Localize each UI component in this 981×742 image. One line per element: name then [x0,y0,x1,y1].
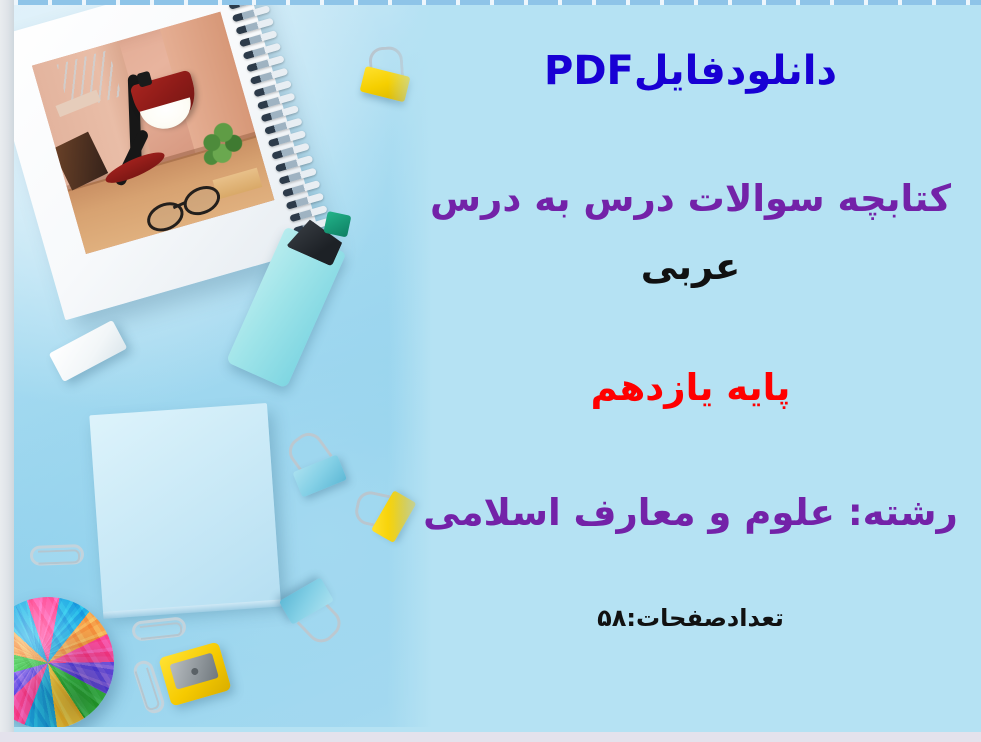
booklet-subtitle: کتابچه سوالات درس به درس [400,178,981,221]
paper-clip-middle [131,616,187,642]
cover-text-column: دانلودفایلPDF کتابچه سوالات درس به درس ع… [400,0,981,742]
highlighter-tip-icon [323,211,351,238]
rubber-band-ball [14,597,114,727]
white-eraser [49,320,128,382]
paper-clip-left [30,544,85,566]
left-edge-strip [0,0,14,742]
pdf-cover-slide: دانلودفایلPDF کتابچه سوالات درس به درس ع… [0,0,981,742]
blue-binder-clip-lower [275,574,354,653]
top-edge-strip [14,0,981,5]
download-pdf-title: دانلودفایلPDF [400,48,981,94]
page-count-label: تعدادصفحات:۵۸ [400,605,981,633]
study-field: رشته: علوم و معارف اسلامی [400,492,981,535]
stationery-flatlay-photo [14,5,434,727]
yellow-pencil-sharpener [158,641,231,706]
subject-name: عربی [400,246,981,289]
paper-clip-inner-loop [38,549,80,564]
bottom-edge-strip [0,732,981,742]
blue-binder-clip-upper [275,424,351,500]
light-blue-notepad [89,403,280,613]
grade-level: پایه یازدهم [400,367,981,410]
